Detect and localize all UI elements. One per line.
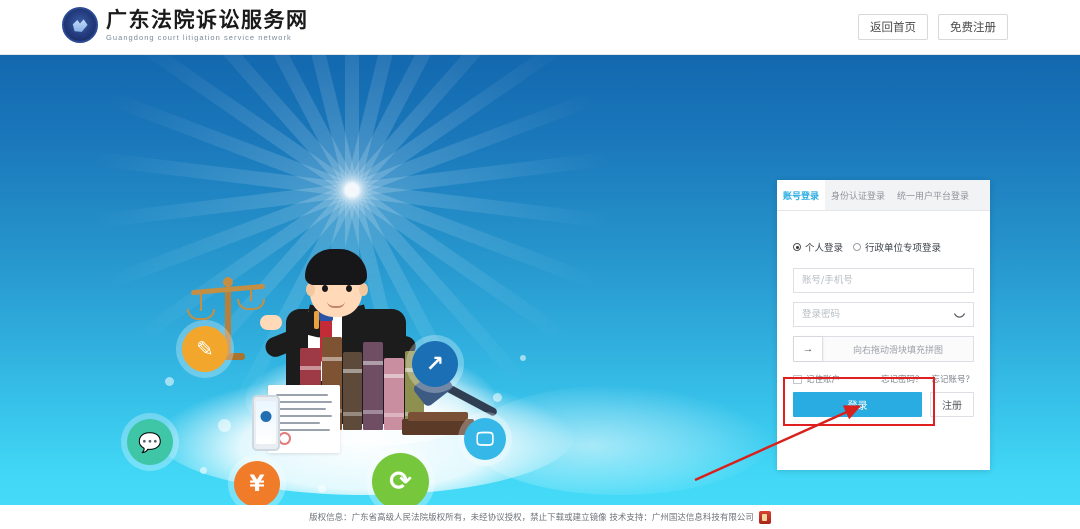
back-home-button[interactable]: 返回首页 xyxy=(858,14,928,40)
tab-identity-login[interactable]: 身份认证登录 xyxy=(825,180,891,210)
police-seal-icon[interactable] xyxy=(759,511,771,524)
login-meta-row: 记住账户 忘记密码？ 忘记账号？ xyxy=(793,373,974,385)
chat-bubble-icon[interactable]: 💬 xyxy=(127,419,173,465)
cloud-decor xyxy=(470,385,770,495)
header-actions: 返回首页 免费注册 xyxy=(858,14,1008,40)
phone-app-icon xyxy=(261,411,272,422)
password-input[interactable] xyxy=(802,309,965,320)
bubble-decor xyxy=(165,377,174,386)
refresh-cycle-icon[interactable]: ⟳ xyxy=(372,453,429,505)
mobile-phone-illustration xyxy=(252,395,280,451)
login-form: 个人登录 行政单位专项登录 → 向右拖动滑块填充拼图 记住账户 忘记密码？ 忘记… xyxy=(777,211,990,417)
doc-line xyxy=(276,415,332,417)
login-type-radio-group: 个人登录 行政单位专项登录 xyxy=(793,240,974,254)
radio-dot-icon xyxy=(853,243,861,251)
scales-string-left xyxy=(200,291,202,311)
login-tabs: 账号登录 身份认证登录 统一用户平台登录 xyxy=(777,180,990,211)
slider-captcha[interactable]: → 向右拖动滑块填充拼图 xyxy=(793,336,974,362)
scales-pan-right xyxy=(237,299,265,310)
eye-closed-icon[interactable] xyxy=(953,310,966,321)
page-title: 广东法院诉讼服务网 xyxy=(106,8,309,32)
scales-knob xyxy=(223,277,233,287)
tab-unified-platform-login[interactable]: 统一用户平台登录 xyxy=(891,180,975,210)
brand-subtitle: Guangdong court litigation service netwo… xyxy=(106,33,309,43)
account-input[interactable] xyxy=(802,275,965,286)
radio-personal-login-label: 个人登录 xyxy=(805,240,843,254)
gavel-sound-block-top xyxy=(408,412,468,421)
login-button-row: 登录 注册 xyxy=(793,392,974,417)
yuan-currency-icon[interactable]: ¥ xyxy=(234,461,280,505)
phone-screen xyxy=(256,401,276,444)
remember-account-label: 记住账户 xyxy=(806,373,840,385)
footer-copyright-text: 版权信息：广东省高级人民法院版权所有，未经协议授权，禁止下载或建立镜像 技术支持… xyxy=(309,511,754,523)
site-footer: 版权信息：广东省高级人民法院版权所有，未经协议授权，禁止下载或建立镜像 技术支持… xyxy=(0,505,1080,529)
doc-line xyxy=(276,408,326,410)
doc-line xyxy=(276,422,320,424)
book xyxy=(363,342,383,430)
register-button[interactable]: 注册 xyxy=(930,392,974,417)
radio-personal-login[interactable]: 个人登录 xyxy=(793,240,843,254)
judge-hair xyxy=(305,249,367,285)
free-register-button[interactable]: 免费注册 xyxy=(938,14,1008,40)
document-edit-icon[interactable]: ✎ xyxy=(182,326,228,372)
brand-logo[interactable]: 广东法院诉讼服务网 Guangdong court litigation ser… xyxy=(62,7,309,43)
site-header: 广东法院诉讼服务网 Guangdong court litigation ser… xyxy=(0,0,1080,55)
court-emblem-icon xyxy=(62,7,98,43)
doc-line xyxy=(276,429,330,431)
radio-admin-unit-login-label: 行政单位专项登录 xyxy=(865,240,941,254)
login-button[interactable]: 登录 xyxy=(793,392,922,417)
doc-line xyxy=(276,401,332,403)
login-panel: 账号登录 身份认证登录 统一用户平台登录 个人登录 行政单位专项登录 → xyxy=(777,180,990,470)
forgot-account-link[interactable]: 忘记账号？ xyxy=(931,373,974,385)
scales-pan-left xyxy=(187,309,215,320)
book-ribbon xyxy=(314,311,319,329)
slider-handle[interactable]: → xyxy=(794,337,823,361)
bubble-decor xyxy=(520,355,526,361)
remember-account-checkbox[interactable] xyxy=(793,375,802,384)
doc-line xyxy=(276,394,328,396)
book xyxy=(343,352,362,430)
judge-ear-right xyxy=(359,283,368,296)
slider-captcha-text: 向右拖动滑块填充拼图 xyxy=(823,343,973,356)
monitor-screen-icon[interactable]: 🖵 xyxy=(464,418,506,460)
radio-admin-unit-login[interactable]: 行政单位专项登录 xyxy=(853,240,941,254)
forgot-password-link[interactable]: 忘记密码？ xyxy=(881,373,924,385)
judge-eye-left xyxy=(322,285,328,292)
tab-account-login[interactable]: 账号登录 xyxy=(777,180,825,210)
radio-dot-selected-icon xyxy=(793,243,801,251)
password-field[interactable] xyxy=(793,302,974,327)
gavel-sound-block xyxy=(402,419,474,435)
judge-eye-right xyxy=(346,285,352,292)
account-field[interactable] xyxy=(793,268,974,293)
arrow-up-right-icon[interactable]: ↗ xyxy=(412,341,458,387)
brand-text: 广东法院诉讼服务网 Guangdong court litigation ser… xyxy=(106,8,309,43)
